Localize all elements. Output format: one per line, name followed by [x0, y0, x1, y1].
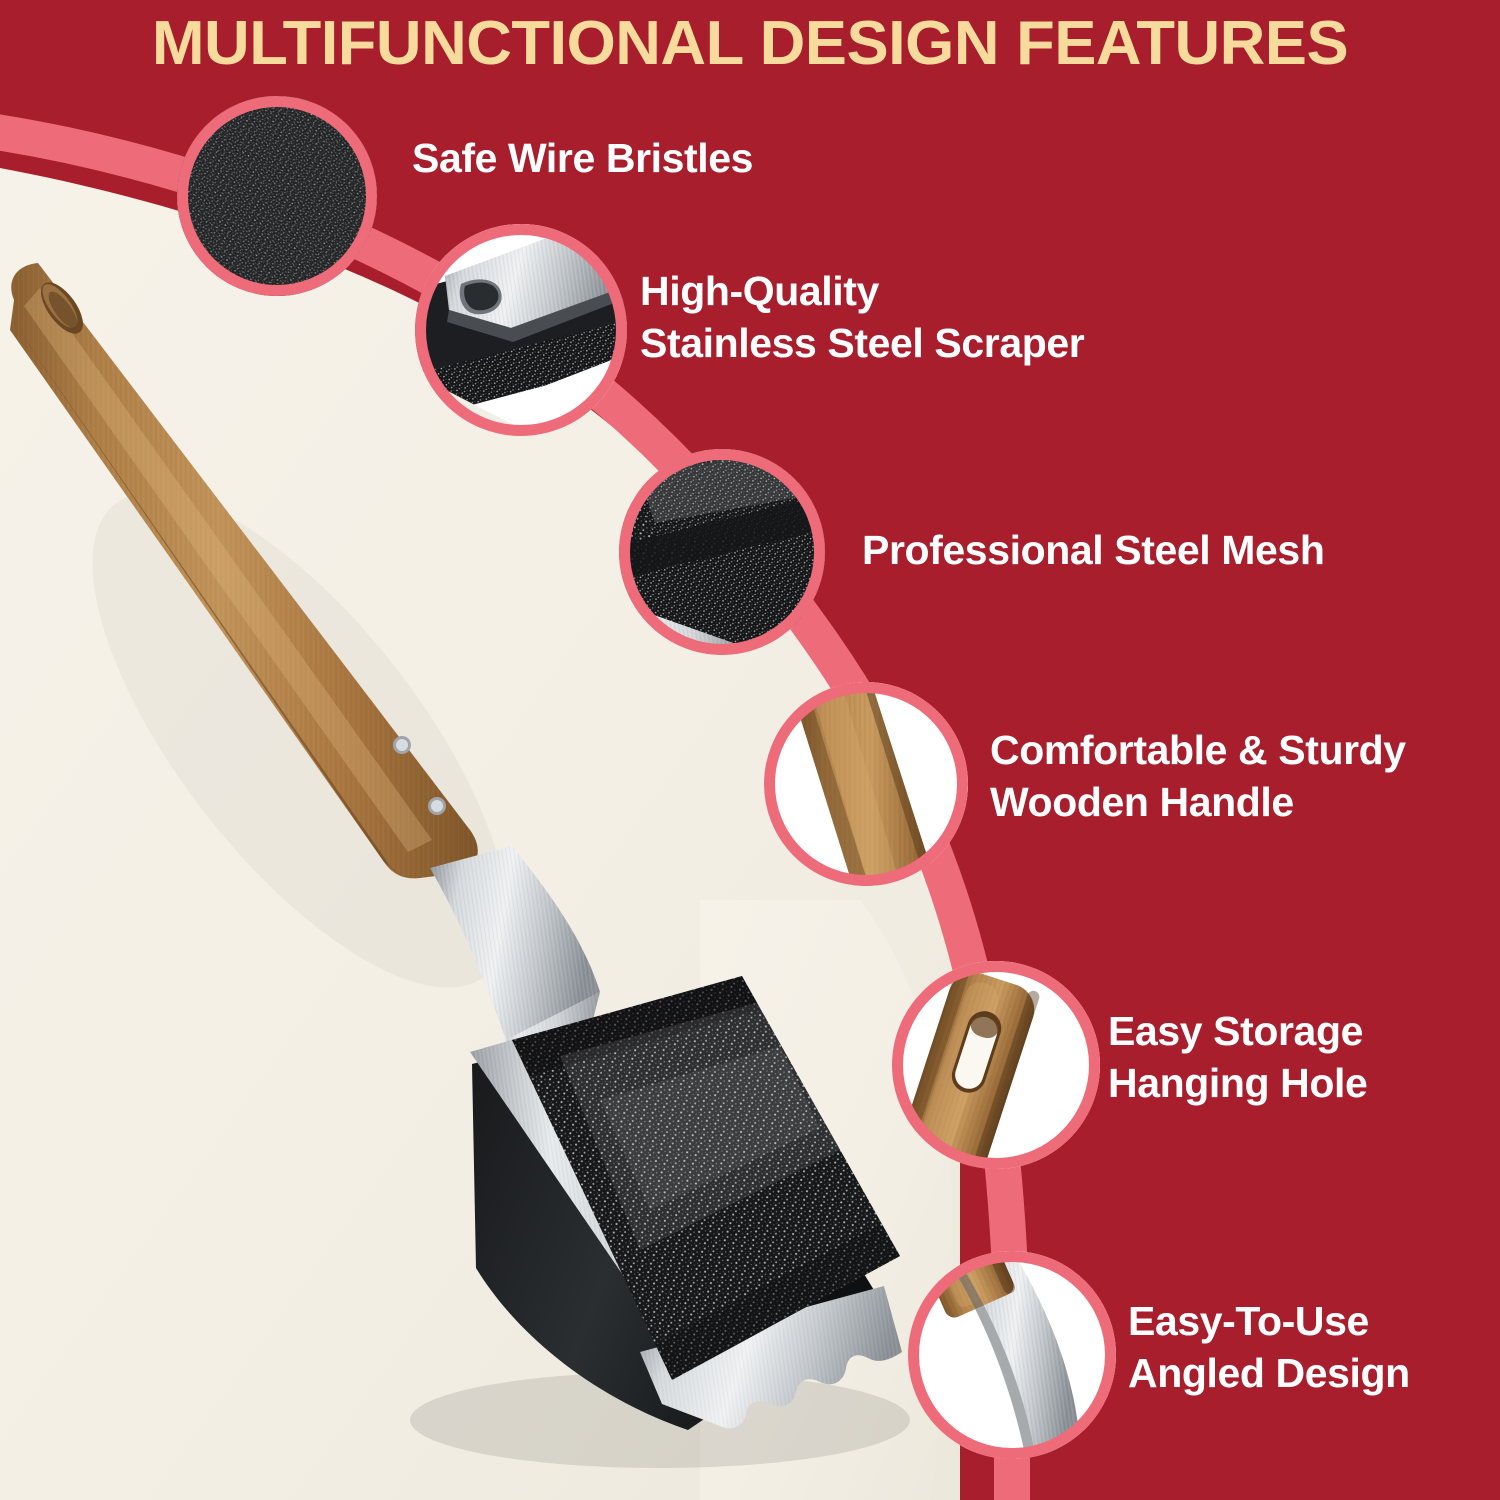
feature-label-hanging-hole: Easy Storage Hanging Hole	[1108, 1005, 1367, 1110]
callout-stainless-steel-scraper[interactable]	[415, 224, 627, 436]
wood-handle-icon	[764, 682, 968, 886]
steel-mesh-icon	[619, 449, 825, 655]
feature-label-stainless-steel-scraper: High-Quality Stainless Steel Scraper	[640, 265, 1084, 370]
angled-neck-icon	[908, 1251, 1116, 1459]
feature-label-professional-steel-mesh: Professional Steel Mesh	[862, 524, 1324, 576]
feature-label-angled-design: Easy-To-Use Angled Design	[1128, 1295, 1410, 1400]
feature-label-wooden-handle: Comfortable & Sturdy Wooden Handle	[990, 724, 1406, 829]
callout-wooden-handle[interactable]	[764, 682, 968, 886]
callout-professional-steel-mesh[interactable]	[619, 449, 825, 655]
page-title: MULTIFUNCTIONAL DESIGN FEATURES	[0, 8, 1500, 79]
hanging-hole-icon	[892, 961, 1100, 1169]
bristle-texture-icon	[177, 96, 377, 296]
feature-label-safe-wire-bristles: Safe Wire Bristles	[412, 132, 753, 184]
scraper-blade-icon	[415, 224, 627, 436]
callout-angled-design[interactable]	[908, 1251, 1116, 1459]
callout-hanging-hole[interactable]	[892, 961, 1100, 1169]
infographic-poster: MULTIFUNCTIONAL DESIGN FEATURES Safe Wir…	[0, 0, 1500, 1500]
callout-safe-wire-bristles[interactable]	[177, 96, 377, 296]
